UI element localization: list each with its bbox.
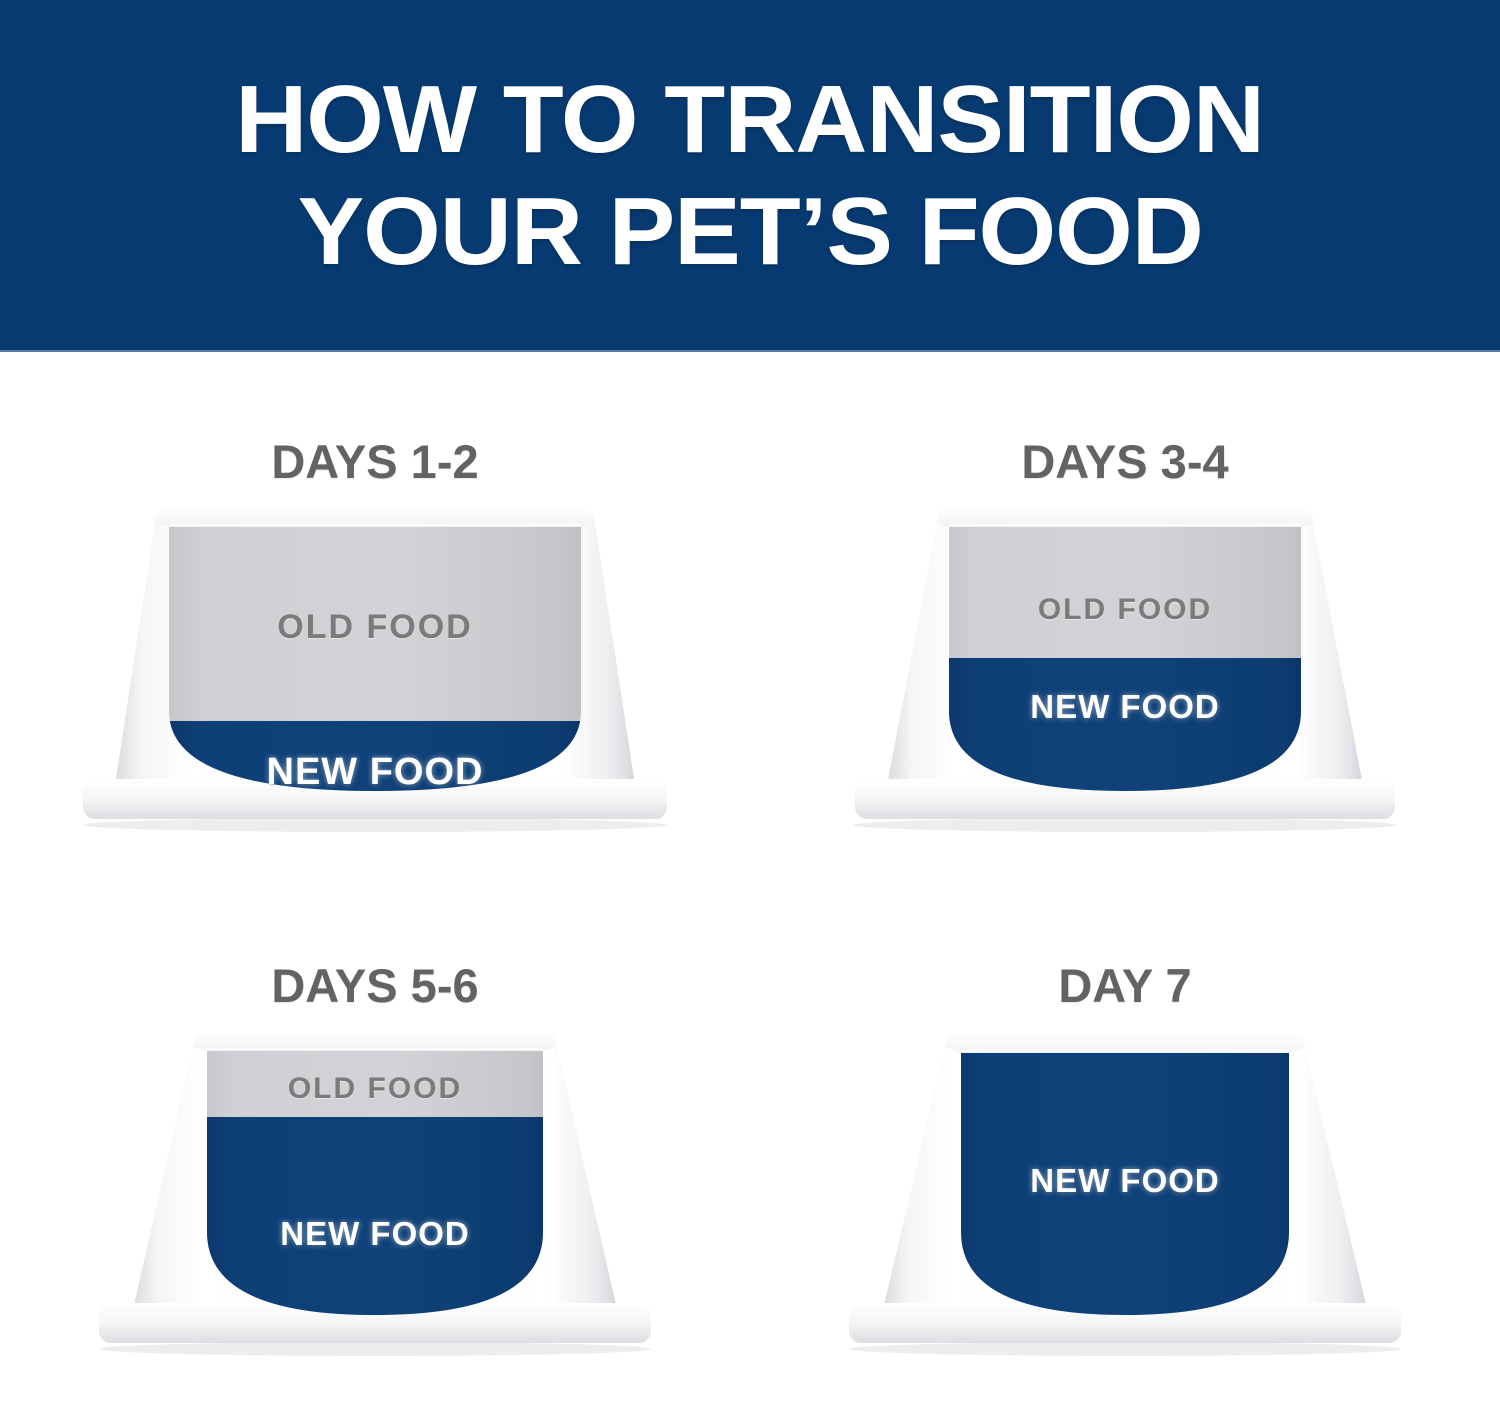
- bowl-cavity: [155, 521, 595, 801]
- page-title-line-1: HOW TO TRANSITION: [236, 72, 1265, 168]
- infographic-page: HOW TO TRANSITION YOUR PET’S FOOD DAYS 1…: [0, 0, 1500, 1401]
- bowl-cavity: [935, 521, 1315, 801]
- new-food-fill: [945, 1045, 1305, 1325]
- bowl-days-3-4: OLD FOOD NEW FOOD: [815, 503, 1435, 833]
- bowl-cavity: [945, 1045, 1305, 1325]
- panel-title: DAYS 3-4: [1021, 434, 1228, 489]
- panel-days-1-2: DAYS 1-2: [0, 352, 750, 876]
- bowl-cavity: [195, 1045, 555, 1325]
- panel-title: DAY 7: [1058, 958, 1191, 1013]
- panel-day-7: DAY 7: [750, 876, 1500, 1401]
- page-title-line-2: YOUR PET’S FOOD: [297, 184, 1202, 280]
- panel-days-3-4: DAYS 3-4: [750, 352, 1500, 876]
- bowl-illustration: [65, 503, 685, 833]
- panel-days-5-6: DAYS 5-6: [0, 876, 750, 1401]
- bowl-days-1-2: OLD FOOD NEW FOOD: [65, 503, 685, 833]
- bowl-illustration: [815, 1027, 1435, 1357]
- page-header: HOW TO TRANSITION YOUR PET’S FOOD: [0, 0, 1500, 352]
- bowl-illustration: [815, 503, 1435, 833]
- new-food-fill: [195, 1117, 555, 1325]
- bowl-illustration: [65, 1027, 685, 1357]
- panel-title: DAYS 1-2: [271, 434, 478, 489]
- bowl-panel-grid: DAYS 1-2: [0, 352, 1500, 1401]
- bowl-days-5-6: OLD FOOD NEW FOOD: [65, 1027, 685, 1357]
- panel-title: DAYS 5-6: [271, 958, 478, 1013]
- bowl-rim: [945, 1031, 1305, 1053]
- bowl-day-7: NEW FOOD: [815, 1027, 1435, 1357]
